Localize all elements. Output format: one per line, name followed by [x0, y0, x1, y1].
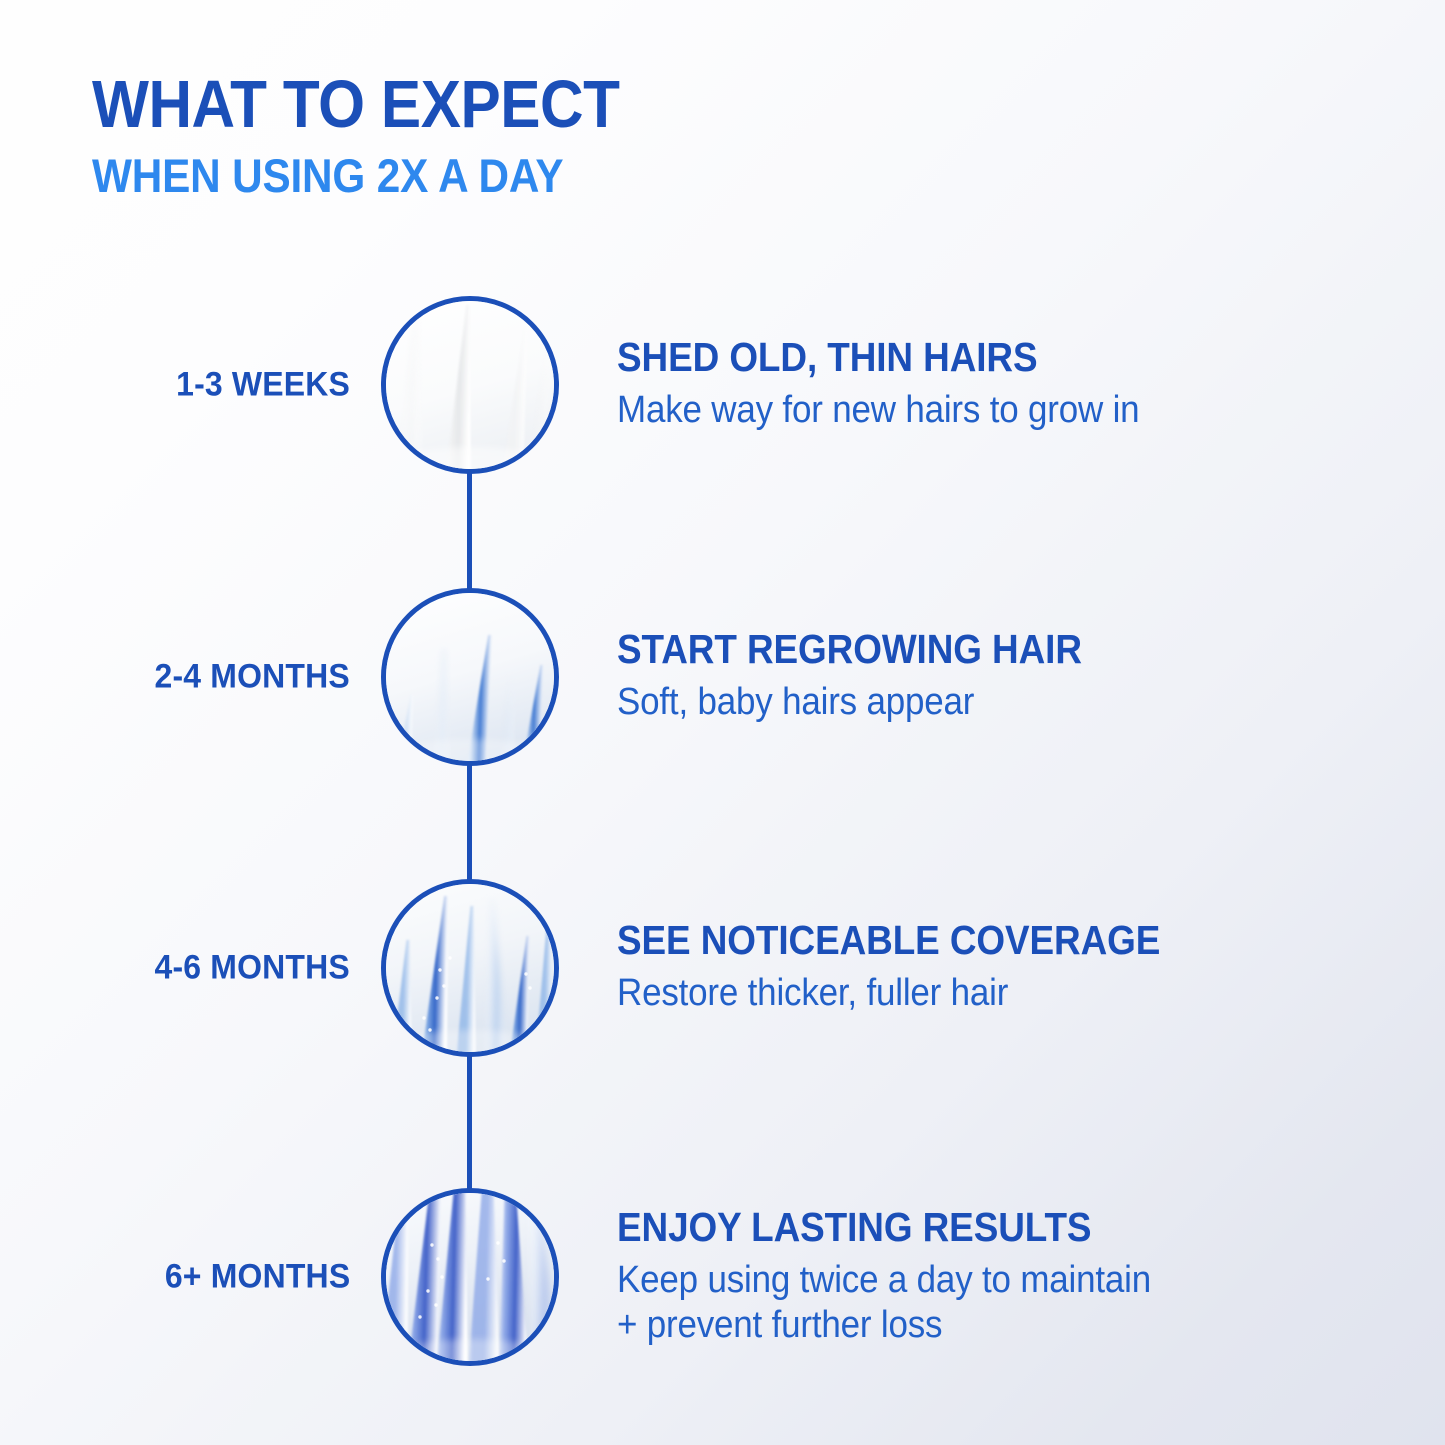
timeline-step-body: Soft, baby hairs appear — [617, 680, 1316, 725]
timeline-connector-1 — [467, 472, 472, 590]
timeline-step-body-line: Soft, baby hairs appear — [617, 680, 1316, 725]
timeline-step-body: Restore thicker, fuller hair — [617, 971, 1316, 1016]
timeline-step-copy: ENJOY LASTING RESULTSKeep using twice a … — [617, 1207, 1377, 1347]
timeline-step-body-line: Keep using twice a day to maintain — [617, 1258, 1316, 1303]
timeline-step-time-label: 6+ MONTHS — [40, 1258, 350, 1297]
timeline-step-headline: SHED OLD, THIN HAIRS — [617, 337, 1301, 379]
timeline-step-time-label: 4-6 MONTHS — [40, 949, 350, 988]
timeline-step-body: Keep using twice a day to maintain+ prev… — [617, 1258, 1316, 1348]
timeline-step-copy: SEE NOTICEABLE COVERAGERestore thicker, … — [617, 920, 1377, 1016]
infographic-root: WHAT TO EXPECT WHEN USING 2X A DAY 1-3 W… — [0, 0, 1445, 1445]
timeline-connector-3 — [467, 1055, 472, 1190]
timeline-step-body-line: Make way for new hairs to grow in — [617, 388, 1316, 433]
timeline-step-headline: ENJOY LASTING RESULTS — [617, 1207, 1301, 1249]
timeline-step-body-line: Restore thicker, fuller hair — [617, 971, 1316, 1016]
timeline-step-headline: SEE NOTICEABLE COVERAGE — [617, 920, 1301, 962]
timeline-connector-2 — [467, 764, 472, 881]
timeline: 1-3 WEEKSSHED OLD, THIN HAIRSMake way fo… — [0, 0, 1445, 1445]
timeline-step-image-hair-macro-pale-thin-strands — [381, 296, 559, 474]
timeline-step-time-label: 1-3 WEEKS — [40, 366, 350, 405]
timeline-step-image-hair-macro-sparse-blue-strands — [381, 588, 559, 766]
timeline-step: 4-6 MONTHSSEE NOTICEABLE COVERAGERestore… — [0, 875, 1445, 1061]
timeline-step: 2-4 MONTHSSTART REGROWING HAIRSoft, baby… — [0, 584, 1445, 770]
timeline-step-copy: START REGROWING HAIRSoft, baby hairs app… — [617, 629, 1377, 725]
timeline-step-body-line: + prevent further loss — [617, 1302, 1316, 1347]
timeline-step-headline: START REGROWING HAIR — [617, 629, 1301, 671]
timeline-step-image-hair-macro-dense-thick-blue-strands — [381, 1188, 559, 1366]
timeline-step-body: Make way for new hairs to grow in — [617, 388, 1316, 433]
timeline-step: 1-3 WEEKSSHED OLD, THIN HAIRSMake way fo… — [0, 292, 1445, 478]
timeline-step-image-hair-macro-fuller-blue-strands — [381, 879, 559, 1057]
timeline-step-time-label: 2-4 MONTHS — [40, 658, 350, 697]
timeline-step: 6+ MONTHSENJOY LASTING RESULTSKeep using… — [0, 1184, 1445, 1370]
timeline-step-copy: SHED OLD, THIN HAIRSMake way for new hai… — [617, 337, 1377, 433]
